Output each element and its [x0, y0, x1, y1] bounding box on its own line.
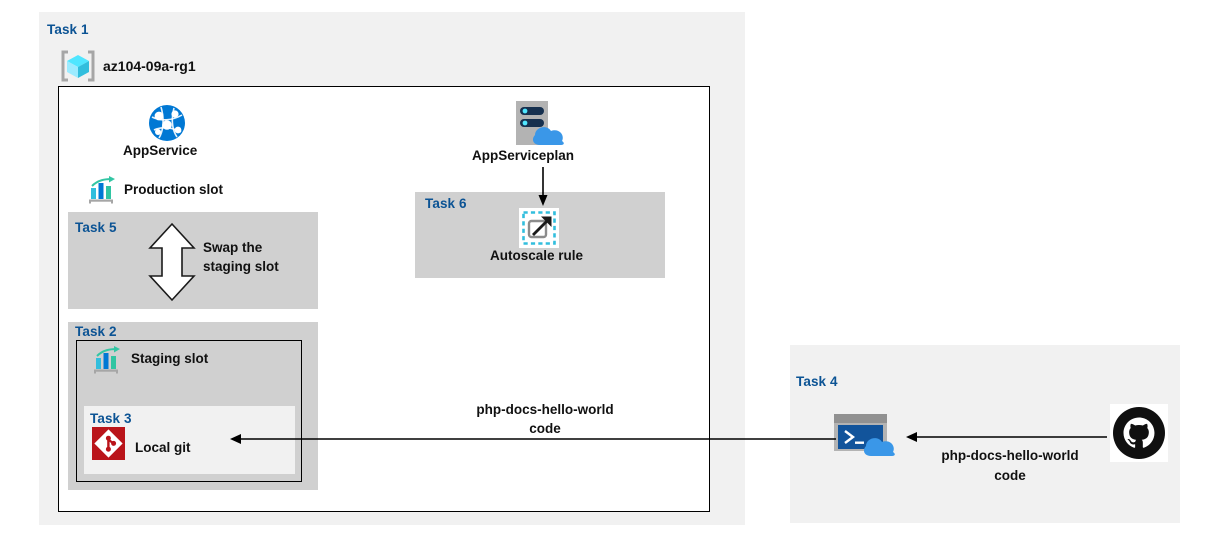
task4-arrow-label-line1: php-docs-hello-world	[912, 448, 1108, 465]
local-git-label: Local git	[135, 440, 191, 455]
center-arrow-label-line1: php-docs-hello-world	[447, 402, 643, 419]
resource-group-name: az104-09a-rg1	[103, 58, 196, 74]
task5-label: Task 5	[75, 220, 117, 235]
deployment-slot-icon	[93, 346, 123, 374]
center-arrow-label-line2: code	[447, 421, 643, 438]
cloud-shell-icon	[833, 412, 899, 458]
appserviceplan-label: AppServiceplan	[472, 148, 574, 163]
deployment-slot-icon	[88, 176, 118, 204]
autoscale-rule-label: Autoscale rule	[490, 248, 583, 263]
diagram-canvas: Task 1 az104-09a-rg1 AppService	[0, 0, 1218, 545]
task5-text-line1: Swap the	[203, 240, 323, 257]
task2-label: Task 2	[75, 324, 117, 339]
git-icon	[92, 427, 125, 460]
autoscale-rule-icon	[519, 208, 559, 248]
production-slot-label: Production slot	[124, 182, 223, 197]
app-service-plan-server-cloud-icon	[510, 99, 576, 151]
staging-slot-label: Staging slot	[131, 351, 208, 366]
appservice-label: AppService	[123, 143, 197, 158]
resource-group-cube-icon	[60, 49, 96, 83]
task1-label: Task 1	[47, 22, 89, 37]
task3-label: Task 3	[90, 411, 132, 426]
app-service-globe-icon	[148, 104, 186, 142]
swap-double-arrow-icon	[146, 222, 198, 302]
task5-text-line2: staging slot	[203, 259, 333, 276]
github-octocat-icon	[1110, 404, 1168, 462]
task4-label: Task 4	[796, 374, 838, 389]
task4-arrow-label-line2: code	[912, 468, 1108, 485]
task6-label: Task 6	[425, 196, 467, 211]
